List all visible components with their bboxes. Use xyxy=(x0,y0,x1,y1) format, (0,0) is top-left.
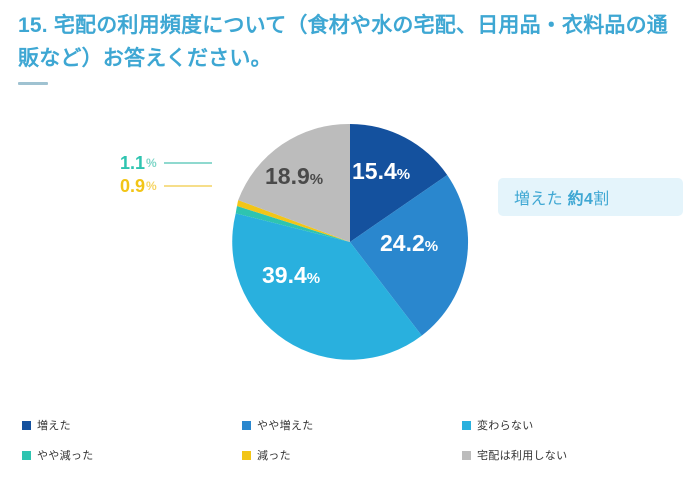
chart-legend: 増えた やや増えた 変わらない やや減った 減った 宅配は利用しない xyxy=(22,410,682,470)
pie-label-unchanged: 39.4% xyxy=(262,264,320,287)
legend-swatch-icon-slightly-decreased xyxy=(22,451,31,460)
legend-swatch-icon-unchanged xyxy=(462,421,471,430)
legend-item-slightly-increased[interactable]: やや増えた xyxy=(242,417,462,433)
pie-chart: 15.4% 24.2% 39.4% 18.9% 1.1 % 0.9 % 増えた … xyxy=(0,105,700,385)
callout-percent-decreased: % xyxy=(146,180,157,192)
legend-item-slightly-decreased[interactable]: やや減った xyxy=(22,447,242,463)
legend-item-unchanged[interactable]: 変わらない xyxy=(462,417,682,433)
callout-value-slightly-decreased: 1.1 xyxy=(120,154,145,172)
title-block: 15. 宅配の利用頻度について（食材や水の宅配、日用品・衣料品の通販など）お答え… xyxy=(18,10,682,85)
legend-label-increased: 増えた xyxy=(37,417,71,433)
callout-leader-line-slightly-decreased xyxy=(164,162,212,164)
legend-label-unchanged: 変わらない xyxy=(477,417,534,433)
highlight-callout-box: 増えた 約4割 xyxy=(498,178,683,216)
pie-label-slightly-increased: 24.2% xyxy=(380,232,438,255)
legend-item-increased[interactable]: 増えた xyxy=(22,417,242,433)
pie-label-increased: 15.4% xyxy=(352,160,410,183)
page-title: 15. 宅配の利用頻度について（食材や水の宅配、日用品・衣料品の通販など）お答え… xyxy=(18,10,682,75)
pie-label-not-used: 18.9% xyxy=(265,165,323,188)
legend-item-decreased[interactable]: 減った xyxy=(242,447,462,463)
legend-item-not-used[interactable]: 宅配は利用しない xyxy=(462,447,682,463)
callout-decreased: 0.9 % xyxy=(120,177,212,195)
title-underline-rule xyxy=(18,82,48,85)
callout-value-decreased: 0.9 xyxy=(120,177,145,195)
callout-leader-line-decreased xyxy=(164,185,212,187)
legend-swatch-icon-increased xyxy=(22,421,31,430)
callout-slightly-decreased: 1.1 % xyxy=(120,154,212,172)
legend-label-slightly-increased: やや増えた xyxy=(257,417,314,433)
legend-label-not-used: 宅配は利用しない xyxy=(477,447,567,463)
legend-swatch-icon-not-used xyxy=(462,451,471,460)
legend-swatch-icon-slightly-increased xyxy=(242,421,251,430)
legend-label-slightly-decreased: やや減った xyxy=(37,447,94,463)
highlight-callout-text: 増えた 約4割 xyxy=(514,185,609,209)
legend-swatch-icon-decreased xyxy=(242,451,251,460)
callout-percent-slightly-decreased: % xyxy=(146,157,157,169)
legend-label-decreased: 減った xyxy=(257,447,291,463)
